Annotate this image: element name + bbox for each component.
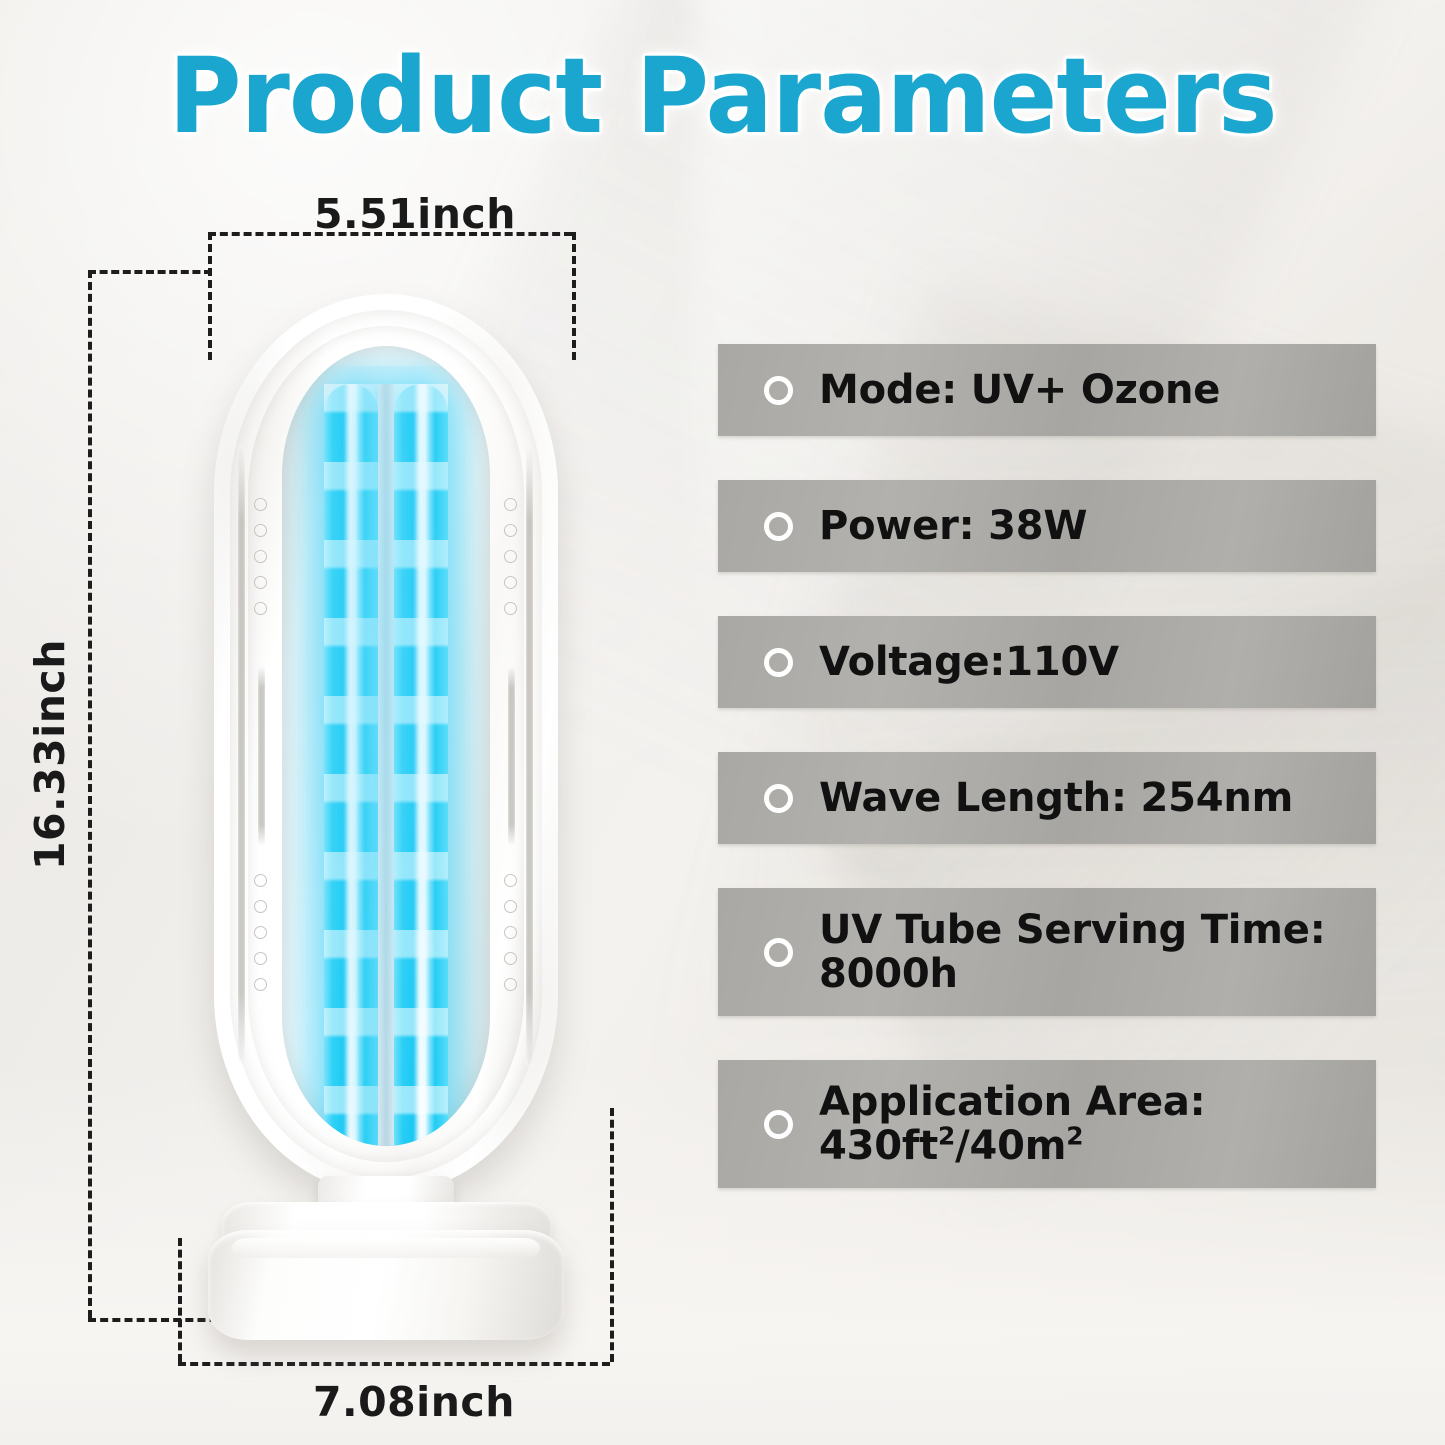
parameter-row-application-area: Application Area: 430ft2/40m2 [718,1060,1376,1188]
lamp-tube-cavity [282,346,490,1146]
parameter-label-application-area-line1: Application Area: [819,1079,1205,1125]
circle-bullet-icon [764,784,793,813]
circle-bullet-icon [764,938,793,967]
parameter-label-tube-life-line1: UV Tube Serving Time: [819,907,1326,953]
dimension-label-base-width: 7.08inch [313,1378,515,1426]
vent-slot-left-middle [258,666,265,846]
parameter-row-power: Power: 38W [718,480,1376,572]
dimension-line-height [88,270,92,1318]
dimension-line-base-right-tick [610,1108,614,1362]
parameter-row-wavelength: Wave Length: 254nm [718,752,1376,844]
dimension-label-height: 16.33inch [26,650,74,870]
parameter-label-wavelength: Wave Length: 254nm [819,776,1293,820]
circle-bullet-icon [764,1110,793,1139]
parameter-label-power: Power: 38W [819,504,1087,548]
product-image-uv-lamp [186,246,586,1326]
parameter-row-voltage: Voltage:110V [718,616,1376,708]
circle-bullet-icon [764,512,793,541]
vent-dots-right-lower [504,874,518,991]
dimension-line-base-width [178,1362,610,1366]
uv-tube-right-core [413,384,429,1146]
vent-dots-left-lower [254,874,268,991]
page-title: Product Parameters [29,44,1416,148]
dimension-line-base-left-tick [178,1238,182,1362]
infographic-canvas: Product Parameters 5.51inch 16.33inch 7.… [0,0,1445,1445]
parameter-row-tube-life: UV Tube Serving Time: 8000h [718,888,1376,1016]
dimension-label-width: 5.51inch [314,190,516,238]
vent-slot-left-outer [238,446,245,1066]
parameter-list: Mode: UV+ Ozone Power: 38W Voltage:110V … [718,344,1376,1232]
vent-dots-right-upper [504,498,518,615]
parameter-label-tube-life-line2: 8000h [819,952,1326,996]
vent-slot-right-middle [508,666,515,846]
parameter-row-mode: Mode: UV+ Ozone [718,344,1376,436]
uv-tube-left-core [343,384,359,1146]
lamp-base-lip [232,1238,540,1258]
parameter-label-voltage: Voltage:110V [819,640,1119,684]
uv-tube-divider [378,384,394,1146]
parameter-label-mode: Mode: UV+ Ozone [819,368,1220,412]
parameter-label-application-area: Application Area: 430ft2/40m2 [819,1080,1205,1168]
circle-bullet-icon [764,376,793,405]
parameter-label-tube-life: UV Tube Serving Time: 8000h [819,908,1326,996]
uv-tube-left [324,384,378,1146]
uv-tube-right [394,384,448,1146]
vent-dots-left-upper [254,498,268,615]
circle-bullet-icon [764,648,793,677]
parameter-label-application-area-line2: 430ft2/40m2 [819,1124,1205,1168]
vent-slot-right-outer [526,446,533,1066]
